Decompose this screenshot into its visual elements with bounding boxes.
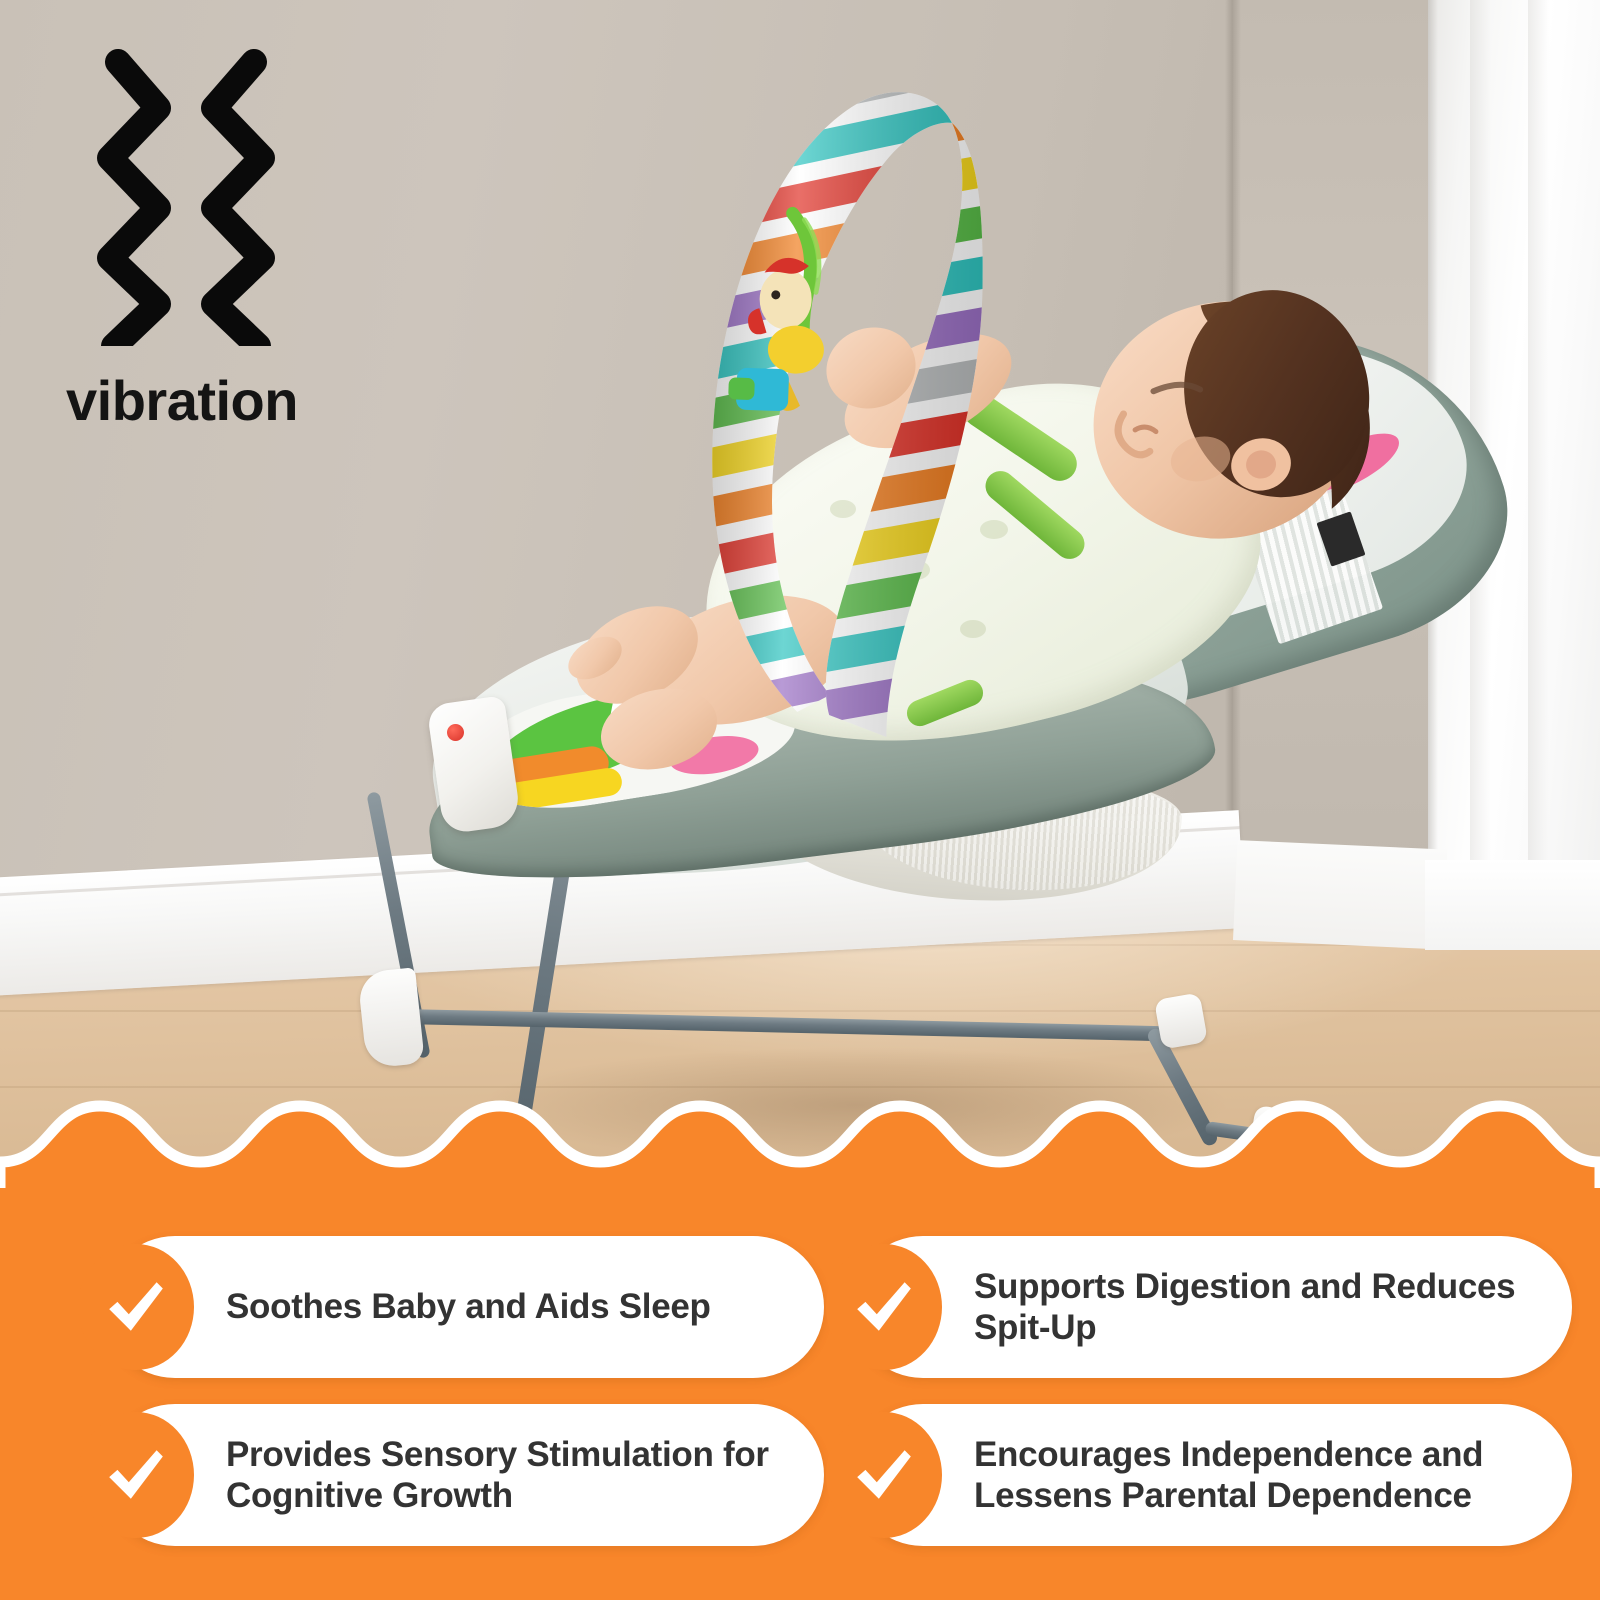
check-icon [78,1244,194,1370]
vibration-waves-icon [66,46,316,346]
feature-label: Supports Digestion and Reduces Spit-Up [974,1266,1538,1349]
baseboard-window [1425,860,1600,950]
feature-card-grid: Soothes Baby and Aids Sleep Supports Dig… [0,1236,1600,1546]
vibration-badge: vibration [66,46,366,396]
frame-joint-right [1154,992,1208,1049]
check-icon [78,1412,194,1538]
feature-card[interactable]: Soothes Baby and Aids Sleep [104,1236,824,1378]
vibration-power-button [447,724,464,741]
feature-card[interactable]: Provides Sensory Stimulation for Cogniti… [104,1404,824,1546]
baseboard-right [1233,840,1447,949]
feature-card[interactable]: Encourages Independence and Lessens Pare… [852,1404,1572,1546]
feature-label: Soothes Baby and Aids Sleep [226,1286,711,1327]
vibration-label: vibration [66,368,366,433]
check-icon [826,1244,942,1370]
onesie-pattern [980,520,1008,539]
curtain-fold [1528,0,1558,930]
feature-label: Encourages Independence and Lessens Pare… [974,1434,1538,1517]
features-panel: Soothes Baby and Aids Sleep Supports Dig… [0,1188,1600,1600]
check-icon [826,1412,942,1538]
feature-card[interactable]: Supports Digestion and Reduces Spit-Up [852,1236,1572,1378]
toy-arch [679,70,992,740]
feature-label: Provides Sensory Stimulation for Cogniti… [226,1434,790,1517]
